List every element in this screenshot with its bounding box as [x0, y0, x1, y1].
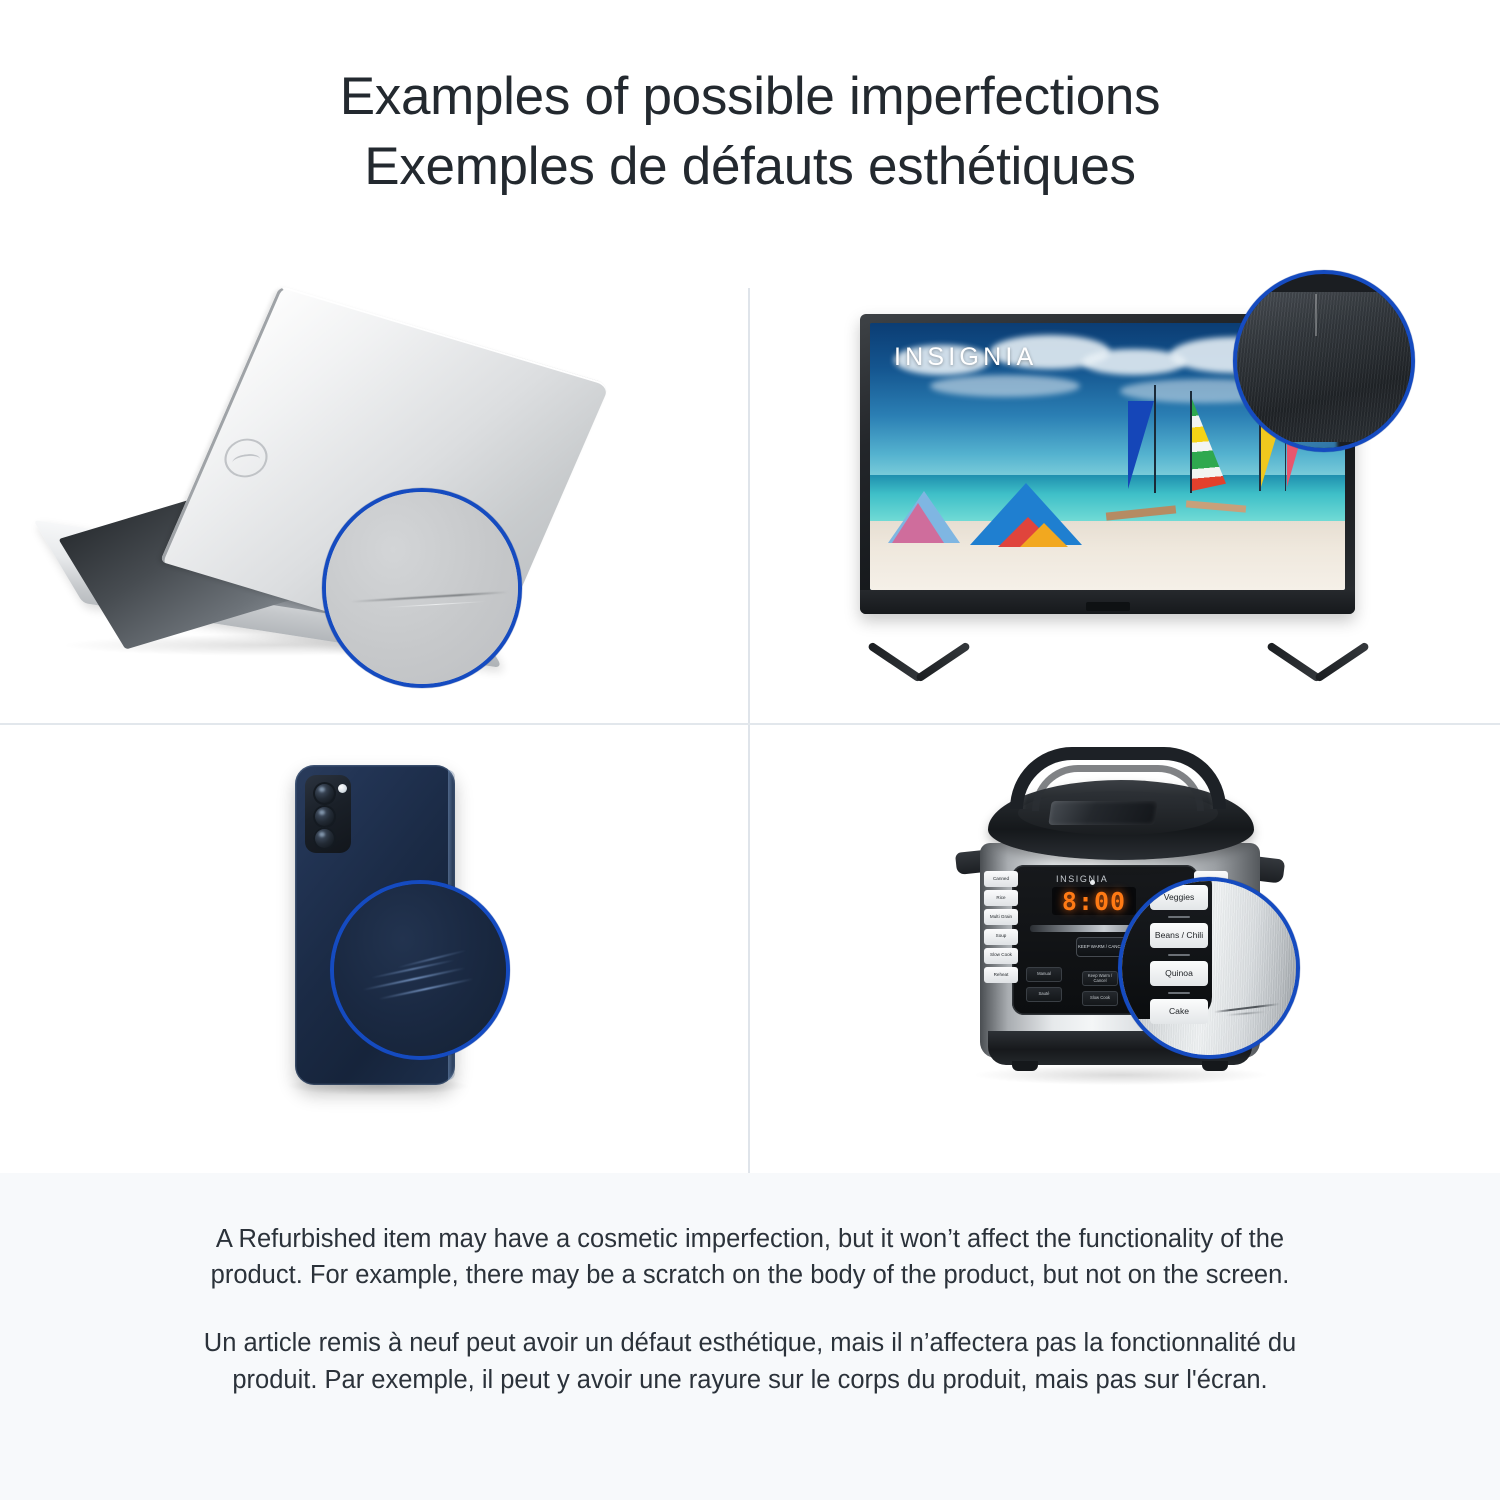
- smartphone-illustration: [0, 725, 748, 1173]
- cooker-panel-button[interactable]: Slow Cook: [1082, 991, 1118, 1006]
- cooker-left-button-column: Canned Rice Multi Grain Soup Slow Cook R…: [984, 871, 1018, 986]
- cooker-panel-button[interactable]: Manual: [1026, 967, 1062, 982]
- magnifier-cooker-button[interactable]: Cake: [1150, 999, 1208, 1024]
- phone-camera-lens: [313, 827, 336, 850]
- magnifier-tv-bezel-texture: [1233, 292, 1415, 442]
- tv-scene-tent: [892, 503, 944, 543]
- cooker-preset-button[interactable]: Canned: [984, 871, 1018, 887]
- cooker-preset-button[interactable]: Multi Grain: [984, 909, 1018, 925]
- magnifier-cooker-button-separator: [1168, 916, 1190, 918]
- magnifier-phone-scratches: [330, 880, 510, 1060]
- tv-brand-logo: INSIGNIA: [894, 343, 1037, 372]
- tv-ir-receiver: [1086, 602, 1130, 611]
- television-illustration: INSIGNIA: [750, 282, 1500, 702]
- magnifier-tv-bezel: [1233, 270, 1415, 452]
- cooker-panel-button[interactable]: Keep Warm / Cancel: [1082, 971, 1118, 986]
- tv-bottom-bezel: [860, 590, 1355, 614]
- phone-camera-flash-icon: [338, 784, 347, 793]
- page-title-en: Examples of possible imperfections: [340, 62, 1161, 132]
- cooker-foot: [1202, 1061, 1228, 1071]
- tv-scene-sailboat: [1128, 385, 1174, 495]
- phone-camera-module: [305, 775, 351, 853]
- cell-laptop: [0, 268, 748, 723]
- phone-camera-lens: [313, 782, 336, 805]
- magnifier-cooker-button-separator: [1168, 992, 1190, 994]
- cooker-lid-handle-inner: [1032, 765, 1204, 811]
- magnifier-laptop-scratch: [322, 488, 522, 688]
- footer-paragraph-en: A Refurbished item may have a cosmetic i…: [170, 1221, 1330, 1293]
- magnifier-tv-bezel-seam: [1315, 294, 1317, 336]
- magnifier-phone-surface: [334, 884, 506, 1056]
- phone-camera-lens: [313, 805, 336, 828]
- product-example-grid: INSIGNIA: [0, 268, 1500, 1173]
- cooker-brand-logo: INSIGNIA: [1056, 874, 1108, 884]
- infographic-page: Examples of possible imperfections Exemp…: [0, 0, 1500, 1500]
- cooker-indicator-dot: [1090, 880, 1095, 885]
- magnifier-cooker-button-separator: [1168, 954, 1190, 956]
- magnifier-laptop-surface: [326, 492, 518, 684]
- page-title-fr: Exemples de défauts esthétiques: [364, 132, 1135, 202]
- cooker-preset-button[interactable]: Rice: [984, 890, 1018, 906]
- cell-smartphone: [0, 725, 748, 1173]
- magnifier-cooker-button-column: Veggies Beans / Chili Quinoa Cake: [1150, 885, 1208, 1030]
- laptop-illustration: [30, 298, 720, 698]
- footer-paragraph-fr: Un article remis à neuf peut avoir un dé…: [170, 1325, 1330, 1397]
- tv-scene-tent: [1020, 523, 1068, 547]
- magnifier-cooker-button[interactable]: Beans / Chili: [1150, 923, 1208, 948]
- tv-scene-sailboat: [1188, 391, 1244, 495]
- cooker-preset-button[interactable]: Slow Cook: [984, 948, 1018, 964]
- cooker-preset-button[interactable]: Reheat: [984, 967, 1018, 983]
- page-header: Examples of possible imperfections Exemp…: [0, 0, 1500, 268]
- cell-television: INSIGNIA: [750, 268, 1500, 723]
- cooker-foot: [1012, 1061, 1038, 1071]
- magnifier-cooker-button[interactable]: Veggies: [1150, 885, 1208, 910]
- cooker-panel-button[interactable]: Sauté: [1026, 987, 1062, 1002]
- tv-scene-cloud: [930, 375, 1080, 397]
- magnifier-cooker-button[interactable]: Quinoa: [1150, 961, 1208, 986]
- page-footer: A Refurbished item may have a cosmetic i…: [0, 1173, 1500, 1500]
- cooker-display-value: 8:00: [1062, 887, 1126, 916]
- pressure-cooker-illustration: INSIGNIA 8:00 KEEP WARM / CANCEL Manual …: [750, 725, 1500, 1173]
- cell-pressure-cooker: INSIGNIA 8:00 KEEP WARM / CANCEL Manual …: [750, 725, 1500, 1173]
- cooker-preset-button[interactable]: Soup: [984, 929, 1018, 945]
- magnifier-cooker-scratch: Delay Slow Cook Veggies Beans / Chili Qu…: [1118, 877, 1300, 1059]
